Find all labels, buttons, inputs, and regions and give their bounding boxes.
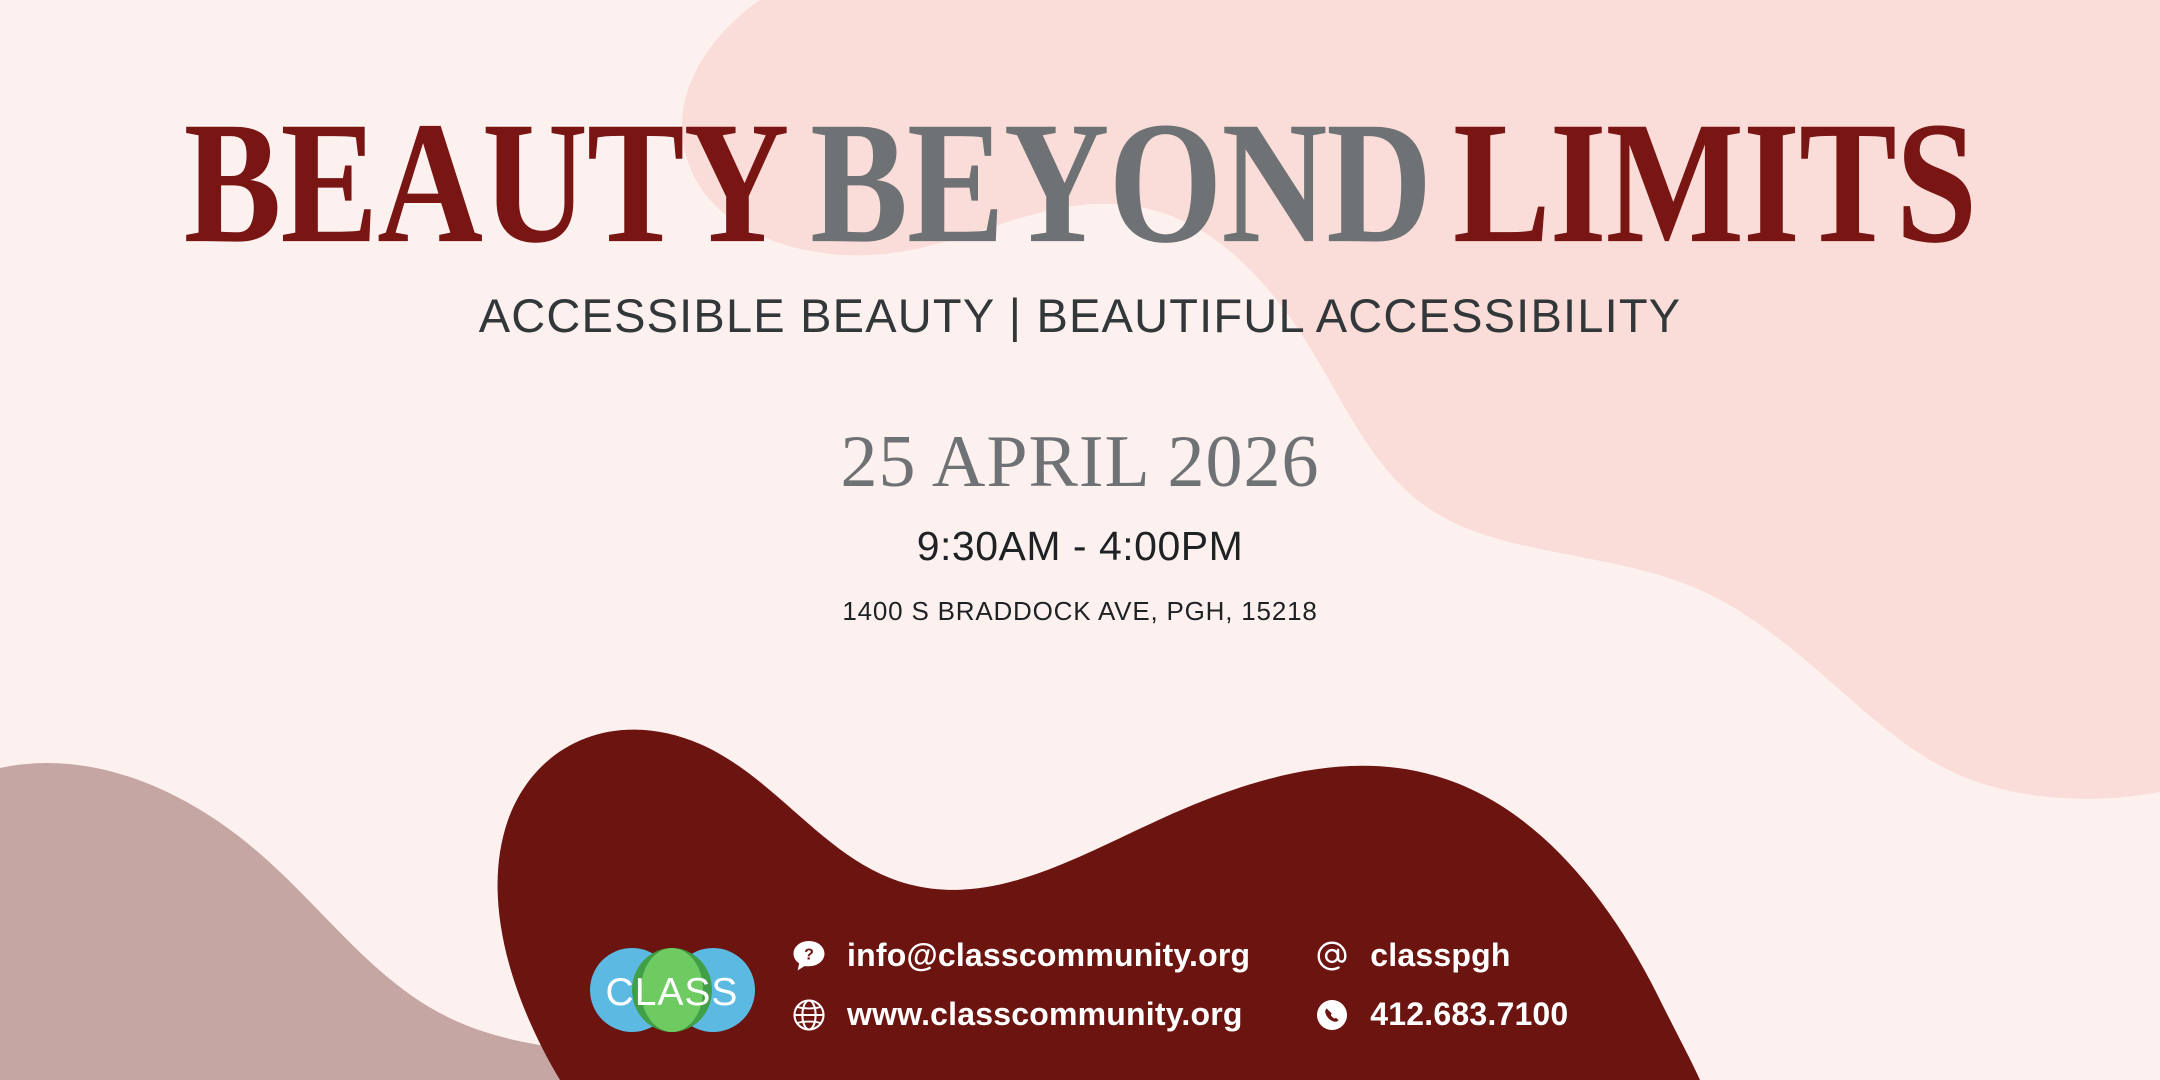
globe-icon xyxy=(791,997,827,1033)
contact-item-website[interactable]: www.classcommunity.org xyxy=(791,996,1250,1033)
at-sign-icon xyxy=(1314,938,1350,974)
class-logo-icon: CLASS xyxy=(590,935,755,1045)
event-time: 9:30AM - 4:00PM xyxy=(0,523,2160,570)
event-address: 1400 S BRADDOCK AVE, PGH, 15218 xyxy=(0,596,2160,627)
main-title: BEAUTYBEYONDLIMITS xyxy=(11,96,2149,271)
title-block: BEAUTYBEYONDLIMITS xyxy=(0,96,2160,244)
class-logo[interactable]: CLASS xyxy=(590,935,755,1045)
contact-column-right: classpgh 412.683.7100 xyxy=(1314,937,1568,1033)
contact-website-text: www.classcommunity.org xyxy=(847,996,1243,1033)
contact-item-phone[interactable]: 412.683.7100 xyxy=(1314,996,1568,1033)
svg-text:?: ? xyxy=(804,946,814,963)
contact-email-text: info@classcommunity.org xyxy=(847,937,1250,974)
class-logo-text: CLASS xyxy=(606,971,739,1014)
question-bubble-icon: ? xyxy=(791,938,827,974)
event-date: 25 APRIL 2026 xyxy=(0,425,2160,499)
contact-columns: ? info@classcommunity.org xyxy=(791,937,1568,1033)
phone-icon xyxy=(1314,997,1350,1033)
contact-item-social[interactable]: classpgh xyxy=(1314,937,1568,974)
contact-item-email[interactable]: ? info@classcommunity.org xyxy=(791,937,1250,974)
event-flyer: BEAUTYBEYONDLIMITS ACCESSIBLE BEAUTY | B… xyxy=(0,0,2160,1080)
footer-contact-bar: CLASS ? info@classcommunity.org xyxy=(585,915,1665,1075)
title-word-beyond: BEYOND xyxy=(810,87,1431,281)
event-details-block: 25 APRIL 2026 9:30AM - 4:00PM 1400 S BRA… xyxy=(0,425,2160,627)
title-word-beauty: BEAUTY xyxy=(184,87,789,281)
contact-phone-text: 412.683.7100 xyxy=(1370,996,1568,1033)
subtitle: ACCESSIBLE BEAUTY | BEAUTIFUL ACCESSIBIL… xyxy=(0,288,2160,343)
contact-social-text: classpgh xyxy=(1370,937,1510,974)
title-word-limits: LIMITS xyxy=(1453,87,1976,281)
contact-column-left: ? info@classcommunity.org xyxy=(791,937,1250,1033)
